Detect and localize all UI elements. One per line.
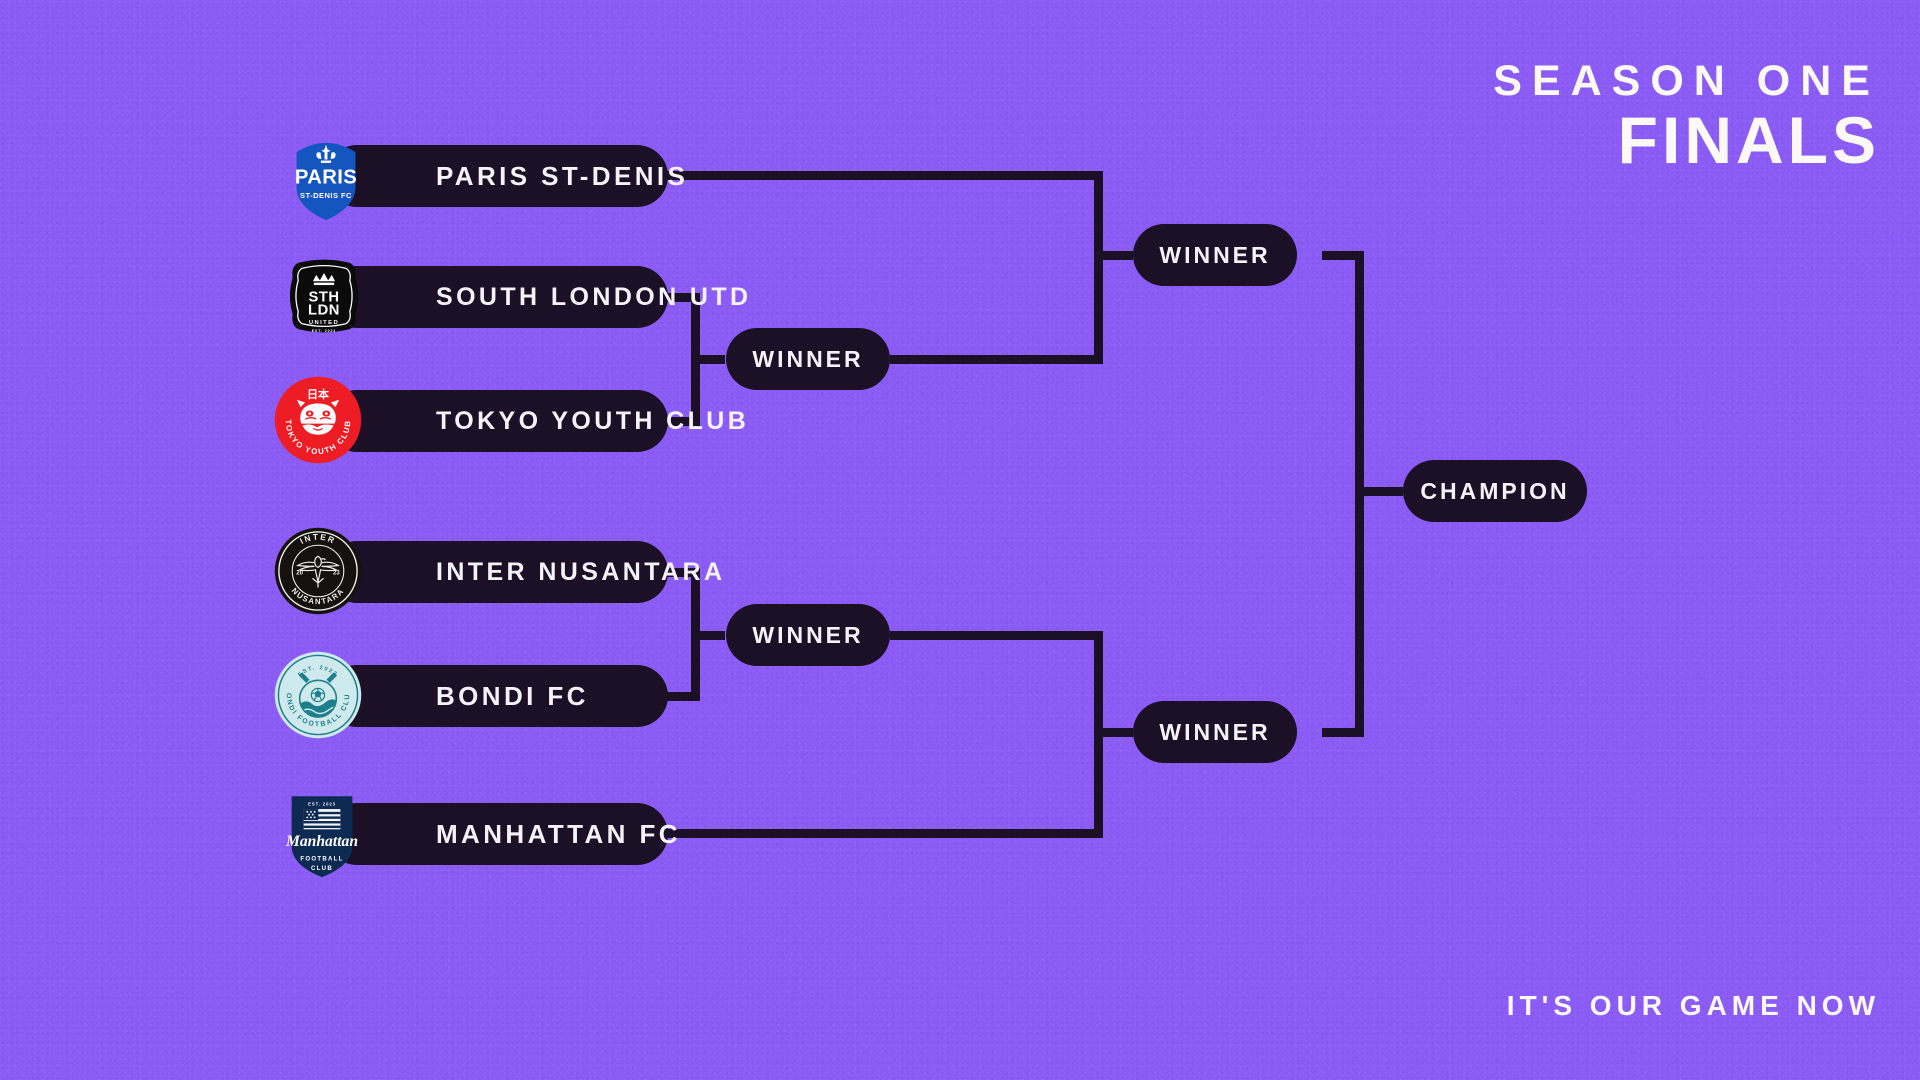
svg-text:FOOTBALL: FOOTBALL xyxy=(300,857,343,863)
team-label-bondi: BONDI FC xyxy=(436,681,589,712)
connector-semi-bottom-out xyxy=(1094,728,1133,737)
champion-slot[interactable]: CHAMPION xyxy=(1403,460,1587,522)
crest-south-london-utd: STH LDN UNITED EST. 2023 xyxy=(278,250,370,342)
paris-st-denis-crest: PARIS ST-DENIS FC xyxy=(295,143,357,220)
winner-label-lower-quarter: WINNER xyxy=(752,622,863,649)
svg-text:CLUB: CLUB xyxy=(311,866,333,872)
winner-slot-semi-bottom[interactable]: WINNER xyxy=(1133,701,1297,763)
svg-text:EST. 2023: EST. 2023 xyxy=(312,329,336,333)
champion-label: CHAMPION xyxy=(1420,478,1569,505)
crest-paris-st-denis: PARIS ST-DENIS FC xyxy=(280,130,372,222)
manhattan-fc-crest: EST. 2023 Manhattan FOOTBALL CL xyxy=(285,796,358,877)
connector-winner-a-horizontal xyxy=(890,355,1103,364)
team-label-inter-nusantara: INTER NUSANTARA xyxy=(436,558,725,587)
team-label-paris: PARIS ST-DENIS xyxy=(436,161,688,192)
connector-pair-a-out xyxy=(691,355,725,364)
team-slot-tokyo[interactable]: TOKYO YOUTH CLUB xyxy=(326,390,668,452)
winner-label-semi-top: WINNER xyxy=(1159,242,1270,269)
south-london-utd-crest: STH LDN UNITED EST. 2023 xyxy=(290,260,358,333)
team-label-south-london: SOUTH LONDON UTD xyxy=(436,283,752,312)
svg-text:Manhattan: Manhattan xyxy=(285,833,358,850)
svg-text:日本: 日本 xyxy=(307,387,330,401)
connector-paris-horizontal xyxy=(666,171,1103,180)
crest-bondi-fc: EST. 2023 BONDI FOOTBALL CLUB xyxy=(272,649,364,741)
tokyo-youth-club-crest: 日本 TOKYO YOUTH CLUB xyxy=(275,377,361,463)
svg-text:PARIS: PARIS xyxy=(295,166,357,188)
winner-label-semi-bottom: WINNER xyxy=(1159,719,1270,746)
svg-text:23: 23 xyxy=(333,571,340,577)
team-slot-inter-nusantara[interactable]: INTER NUSANTARA xyxy=(326,541,668,603)
svg-text:LDN: LDN xyxy=(308,302,340,318)
winner-label-upper-quarter: WINNER xyxy=(752,346,863,373)
winner-slot-semi-top[interactable]: WINNER xyxy=(1133,224,1297,286)
team-slot-south-london[interactable]: SOUTH LONDON UTD xyxy=(326,266,668,328)
svg-text:ST-DENIS FC: ST-DENIS FC xyxy=(300,191,352,200)
bracket-stage: SEASON ONE FINALS IT'S OUR GAME NOW PARI… xyxy=(0,0,1920,1080)
team-slot-paris[interactable]: PARIS ST-DENIS xyxy=(326,145,668,207)
title-line-season: SEASON ONE xyxy=(1493,60,1880,103)
team-slot-manhattan[interactable]: MANHATTAN FC xyxy=(326,803,668,865)
tagline: IT'S OUR GAME NOW xyxy=(1507,990,1880,1022)
connector-winner-b-horizontal xyxy=(890,631,1103,640)
connector-semi-top-vertical xyxy=(1094,171,1103,364)
connector-champion-in xyxy=(1355,487,1403,496)
winner-slot-upper-quarter[interactable]: WINNER xyxy=(726,328,890,390)
crest-tokyo-youth-club: 日本 TOKYO YOUTH CLUB xyxy=(272,374,364,466)
page-title: SEASON ONE FINALS xyxy=(1493,60,1880,174)
inter-nusantara-crest: 20 23 INTER NUSANTARA xyxy=(275,528,361,614)
svg-text:20: 20 xyxy=(296,571,303,577)
crest-inter-nusantara: 20 23 INTER NUSANTARA xyxy=(272,525,364,617)
winner-slot-lower-quarter[interactable]: WINNER xyxy=(726,604,890,666)
team-label-manhattan: MANHATTAN FC xyxy=(436,819,681,850)
connector-semi-top-out xyxy=(1094,251,1133,260)
svg-text:UNITED: UNITED xyxy=(309,320,339,326)
team-slot-bondi[interactable]: BONDI FC xyxy=(326,665,668,727)
crest-manhattan-fc: EST. 2023 Manhattan FOOTBALL CL xyxy=(276,787,368,879)
team-label-tokyo: TOKYO YOUTH CLUB xyxy=(436,407,749,436)
svg-text:EST. 2023: EST. 2023 xyxy=(308,801,336,806)
bondi-fc-crest: EST. 2023 BONDI FOOTBALL CLUB xyxy=(272,649,361,738)
title-line-finals: FINALS xyxy=(1493,107,1880,174)
connector-pair-b-out xyxy=(691,631,725,640)
connector-manhattan-horizontal xyxy=(666,829,1103,838)
